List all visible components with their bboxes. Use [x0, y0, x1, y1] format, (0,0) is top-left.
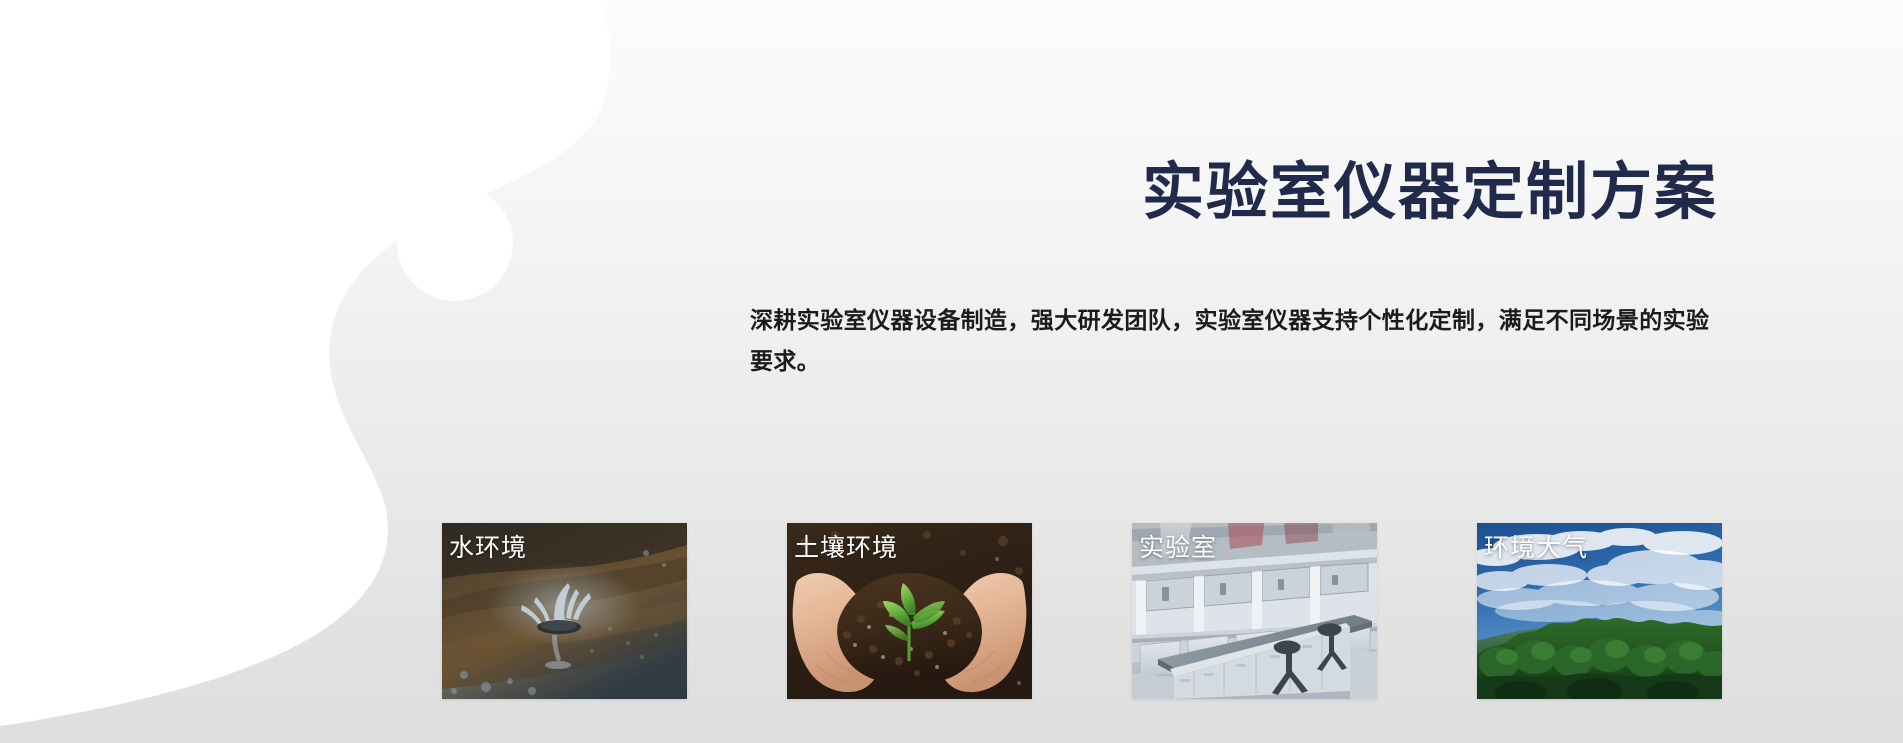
- category-card-soil[interactable]: 土壤环境: [787, 523, 1032, 699]
- category-card-water[interactable]: 水环境: [442, 523, 687, 699]
- category-card-label: 环境大气: [1484, 531, 1588, 565]
- laboratory-custom-solution-banner: 实验室仪器定制方案 深耕实验室仪器设备制造，强大研发团队，实验室仪器支持个性化定…: [0, 0, 1903, 743]
- category-card-atmosphere[interactable]: 环境大气: [1477, 523, 1722, 699]
- category-card-laboratory[interactable]: 实验室: [1132, 523, 1377, 699]
- page-title: 实验室仪器定制方案: [0, 160, 1718, 227]
- page-subtitle: 深耕实验室仪器设备制造，强大研发团队，实验室仪器支持个性化定制，满足不同场景的实…: [750, 300, 1730, 382]
- category-card-label: 土壤环境: [794, 531, 898, 565]
- category-card-label: 实验室: [1139, 531, 1217, 565]
- category-card-label: 水环境: [449, 531, 527, 565]
- category-card-strip: 水环境: [442, 523, 1717, 699]
